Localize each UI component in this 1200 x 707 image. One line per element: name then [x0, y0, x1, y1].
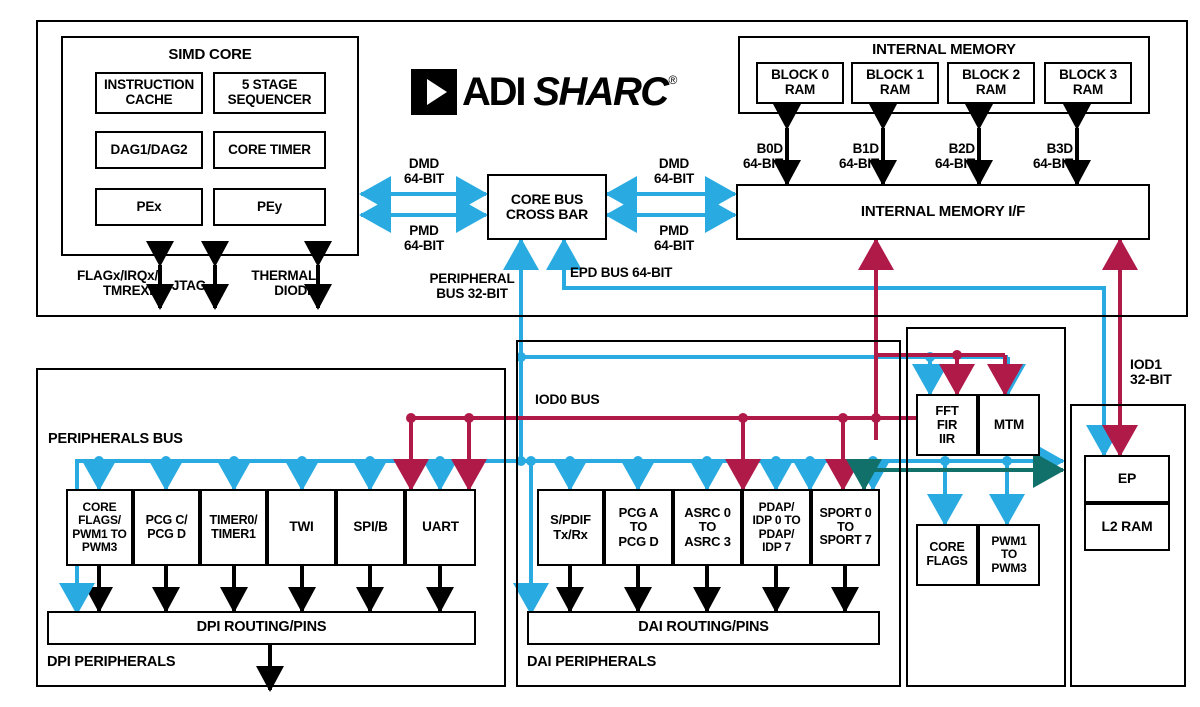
- dai-block-pcg-a-d: PCG A TO PCG D: [604, 489, 673, 566]
- dpi-block-uart: UART: [405, 489, 476, 566]
- flagx-irqx-tmrexp-label: FLAGx/IRQx/ TMREXP: [36, 269, 158, 298]
- dai-block-spdif: S/PDIF Tx/Rx: [537, 489, 604, 566]
- dag1-dag2-block: DAG1/DAG2: [95, 131, 203, 169]
- block1-ram-block: BLOCK 1 RAM: [851, 62, 939, 104]
- dpi-block-twi: TWI: [267, 489, 336, 566]
- dai-block-pdap-idp: PDAP/ IDP 0 TO PDAP/ IDP 7: [742, 489, 811, 566]
- b0d-bus-label: B0D 64-BIT: [717, 142, 783, 171]
- accel-block-pwm1-pwm3: PWM1 TO PWM3: [978, 524, 1040, 586]
- dmd-left-label: DMD 64-BIT: [363, 157, 485, 186]
- dpi-peripherals-group-label: DPI PERIPHERALS: [47, 655, 267, 671]
- core-timer-block: CORE TIMER: [213, 131, 326, 169]
- instruction-cache-block: INSTRUCTION CACHE: [95, 72, 203, 114]
- dpi-block-pcg-c-d: PCG C/ PCG D: [133, 489, 200, 566]
- block-diagram-canvas: SIMD CORE INSTRUCTION CACHE 5 STAGE SEQU…: [0, 0, 1200, 707]
- dai-routing-pins-block: DAI ROUTING/PINS: [527, 611, 880, 645]
- iod1-bus-label: IOD1 32-BIT: [1130, 357, 1194, 387]
- accel-block-mtm: MTM: [978, 394, 1040, 456]
- peripherals-bus-label: PERIPHERALS BUS: [48, 432, 278, 448]
- dai-block-asrc: ASRC 0 TO ASRC 3: [673, 489, 742, 566]
- pex-block: PEx: [95, 188, 203, 226]
- registered-mark-icon: ®: [669, 73, 678, 87]
- logo-sharc-text: SHARC: [533, 70, 667, 115]
- thermal-diode-label: THERMAL DIODE: [222, 269, 316, 298]
- core-bus-cross-bar-block: CORE BUS CROSS BAR: [487, 174, 607, 240]
- simd-core-title: SIMD CORE: [61, 46, 359, 63]
- accelerators-frame: [906, 327, 1066, 687]
- b2d-bus-label: B2D 64-BIT: [909, 142, 975, 171]
- play-triangle-icon: [411, 69, 457, 115]
- dpi-routing-pins-block: DPI ROUTING/PINS: [47, 611, 476, 645]
- pmd-left-label: PMD 64-BIT: [363, 224, 485, 253]
- jtag-label: JTAG: [166, 279, 212, 294]
- pey-block: PEy: [213, 188, 326, 226]
- logo-adi-text: ADI: [462, 70, 524, 115]
- dai-peripherals-group-label: DAI PERIPHERALS: [527, 655, 747, 671]
- epd-bus-label: EPD BUS 64-BIT: [570, 266, 750, 281]
- accel-block-fft-fir-iir: FFT FIR IIR: [916, 394, 978, 456]
- l2-ram-block: L2 RAM: [1084, 503, 1170, 551]
- dpi-block-spi-b: SPI/B: [336, 489, 405, 566]
- ep-block: EP: [1084, 455, 1170, 503]
- block2-ram-block: BLOCK 2 RAM: [947, 62, 1035, 104]
- block3-ram-block: BLOCK 3 RAM: [1044, 62, 1132, 104]
- pmd-right-label: PMD 64-BIT: [613, 224, 735, 253]
- accel-block-core-flags: CORE FLAGS: [916, 524, 978, 586]
- internal-memory-if-block: INTERNAL MEMORY I/F: [736, 184, 1150, 240]
- b3d-bus-label: B3D 64-BIT: [1007, 142, 1073, 171]
- dpi-block-timer: TIMER0/ TIMER1: [200, 489, 267, 566]
- iod0-bus-label: IOD0 BUS: [535, 392, 655, 407]
- dpi-block-core-flags-pwm: CORE FLAGS/ PWM1 TO PWM3: [66, 489, 133, 566]
- five-stage-sequencer-block: 5 STAGE SEQUENCER: [213, 72, 326, 114]
- peripheral-bus-label: PERIPHERAL BUS 32-BIT: [405, 272, 539, 301]
- internal-memory-title: INTERNAL MEMORY: [738, 41, 1150, 58]
- b1d-bus-label: B1D 64-BIT: [813, 142, 879, 171]
- block0-ram-block: BLOCK 0 RAM: [756, 62, 844, 104]
- adi-sharc-logo: ADI SHARC ®: [411, 69, 677, 115]
- dai-block-sport: SPORT 0 TO SPORT 7: [811, 489, 880, 566]
